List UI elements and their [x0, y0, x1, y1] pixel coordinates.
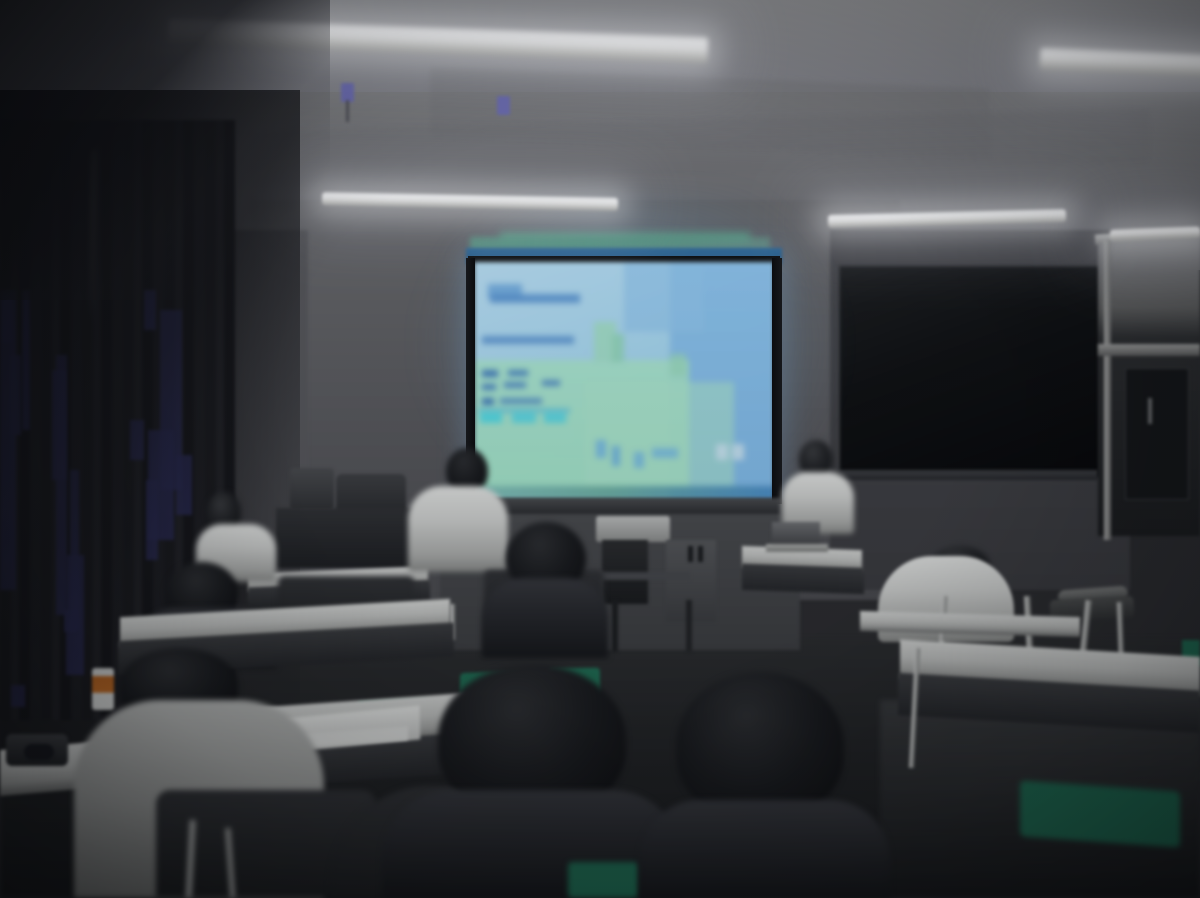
screen-bottom-bar: [468, 498, 780, 514]
av-cart-shelf: [590, 572, 690, 580]
av-cart-leg: [686, 600, 692, 652]
slide-body-text: [500, 398, 542, 404]
classroom-photo: [0, 0, 1200, 898]
projection-screen[interactable]: [474, 262, 774, 500]
slide-body-text: [504, 382, 526, 388]
chalk-tray: [836, 470, 1098, 480]
slide-title-text: [490, 294, 580, 303]
slide-blue-region: [624, 262, 704, 332]
slide-footer-shape: [634, 452, 644, 468]
slide-highlight-swatch: [544, 412, 566, 423]
green-chair[interactable]: [568, 862, 638, 898]
av-cart-leg: [612, 600, 618, 652]
slide-body-text: [482, 384, 496, 390]
slide-body-text: [482, 370, 498, 377]
person-head: [676, 672, 844, 818]
slide-body-text: [482, 398, 494, 405]
slide-footer-shape: [596, 440, 606, 458]
cabinet-shelf: [1098, 344, 1200, 356]
ceiling-marker-stem: [346, 100, 349, 122]
slide-body-text: [542, 380, 560, 386]
slide-highlight-swatch: [480, 412, 502, 423]
bag-strap: [24, 744, 54, 760]
cabinet-post: [1104, 240, 1111, 540]
laptop-base: [766, 544, 828, 552]
cabinet-door[interactable]: [1125, 368, 1189, 500]
av-cart-slot: [688, 546, 693, 562]
slide-subtitle-text: [482, 336, 574, 344]
slide-green-region: [584, 382, 734, 488]
cabinet-handle[interactable]: [1148, 398, 1152, 424]
slide-body-text: [508, 370, 528, 376]
slide-footer-shape: [652, 448, 678, 458]
av-cart-slot: [698, 546, 703, 562]
ceiling-marker-icon: [497, 96, 510, 115]
side-cabinet: [276, 508, 416, 568]
green-chair[interactable]: [1020, 780, 1180, 847]
desk-front-panel: [742, 564, 864, 594]
av-cart-top: [596, 516, 670, 542]
screen-bezel: [772, 258, 782, 504]
slide-highlight-swatch: [512, 412, 536, 423]
slide-chart-shape: [612, 334, 624, 362]
drink-bottle[interactable]: [92, 668, 114, 710]
slide-chart-shape: [670, 354, 686, 376]
person-torso: [640, 800, 890, 898]
person-torso: [408, 486, 508, 572]
blackboard: [838, 265, 1100, 477]
slide-footer-shape: [612, 446, 620, 466]
side-cabinet: [290, 468, 334, 510]
slide-footer-shape: [716, 444, 728, 460]
person-torso: [482, 578, 608, 658]
slide-footer-shape: [732, 444, 744, 460]
